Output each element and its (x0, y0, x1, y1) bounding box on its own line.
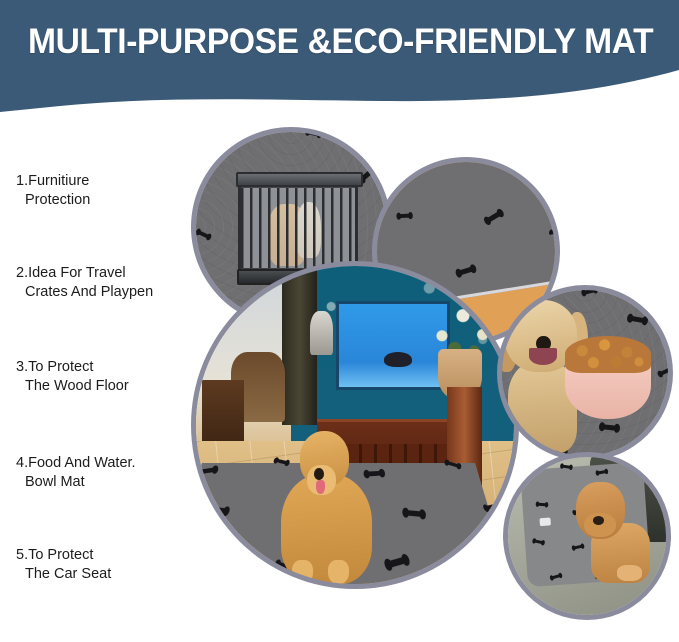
dog-paw-right (328, 560, 349, 584)
living-room-photo (196, 266, 514, 584)
puppy (571, 482, 653, 583)
table-lamp (310, 311, 332, 356)
side-table (202, 380, 243, 444)
food-bowl-photo (502, 290, 668, 456)
dog-mouth (529, 348, 557, 365)
car-seat-photo (508, 457, 666, 615)
infographic-root: MULTI-PURPOSE &ECO-FRIENDLY MAT 1.Furnit… (0, 0, 679, 642)
page-title: MULTI-PURPOSE &ECO-FRIENDLY MAT (28, 20, 604, 64)
room-scene (196, 266, 514, 584)
dog-paw-left (292, 560, 313, 584)
puppy-nose (593, 516, 605, 525)
puppy-paw (617, 565, 642, 581)
kibble (565, 336, 651, 373)
tv-screen-content (384, 352, 412, 367)
photo-collage (0, 100, 679, 642)
crate-top (236, 172, 363, 187)
golden-retriever (279, 431, 374, 584)
crate-bars (241, 188, 355, 267)
